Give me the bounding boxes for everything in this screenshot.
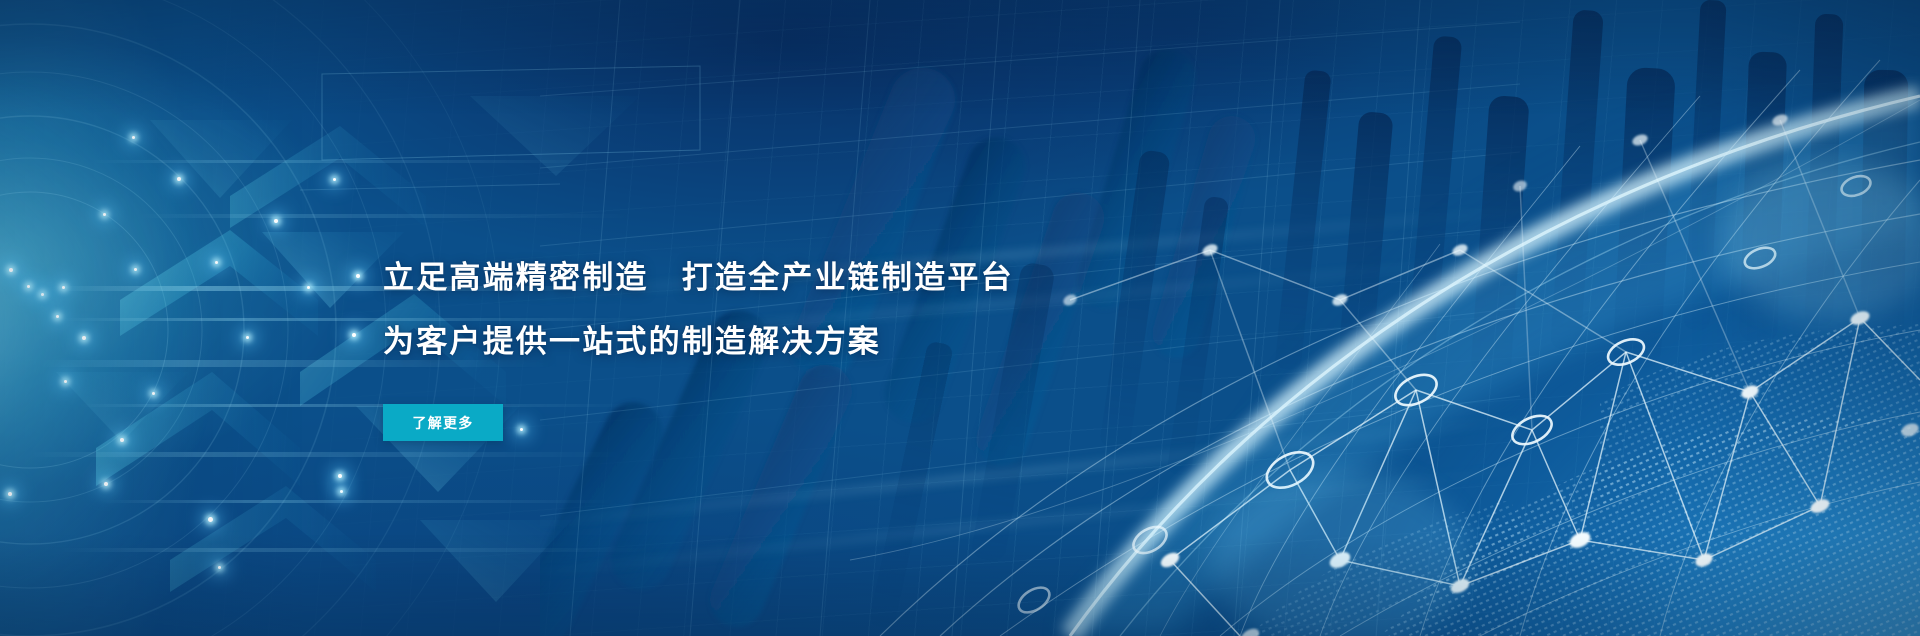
- glow-dot: [134, 268, 137, 271]
- glow-dot: [104, 482, 108, 486]
- glow-dot: [246, 336, 249, 339]
- glow-dot: [62, 286, 65, 289]
- glow-dot: [64, 380, 67, 383]
- glow-dot: [274, 219, 278, 223]
- glow-dot: [103, 213, 106, 216]
- glow-dot: [340, 490, 343, 493]
- glow-dot: [82, 336, 86, 340]
- glow-dot: [208, 517, 213, 522]
- glow-dot: [356, 274, 360, 278]
- glow-dot: [56, 315, 59, 318]
- glow-dot: [177, 177, 181, 181]
- headline-line-2: 为客户提供一站式的制造解决方案: [383, 326, 1203, 357]
- glow-dot: [152, 392, 155, 395]
- glow-dot: [41, 293, 44, 296]
- headline-line-1: 立足高端精密制造 打造全产业链制造平台: [383, 262, 1203, 293]
- hero-banner: 立足高端精密制造 打造全产业链制造平台 为客户提供一站式的制造解决方案 了解更多: [0, 0, 1920, 636]
- glow-dot: [9, 268, 13, 272]
- glow-dot: [333, 178, 336, 181]
- glow-dot: [215, 261, 218, 264]
- learn-more-button[interactable]: 了解更多: [383, 404, 503, 441]
- glow-dot: [338, 474, 342, 478]
- glow-dot: [8, 492, 12, 496]
- glow-dot: [27, 285, 30, 288]
- hero-content: 立足高端精密制造 打造全产业链制造平台 为客户提供一站式的制造解决方案 了解更多: [383, 262, 1203, 441]
- glow-dot: [120, 438, 124, 442]
- glow-dot: [132, 136, 135, 139]
- glow-dot: [218, 566, 221, 569]
- glow-dot: [307, 286, 310, 289]
- glow-dot: [352, 333, 356, 337]
